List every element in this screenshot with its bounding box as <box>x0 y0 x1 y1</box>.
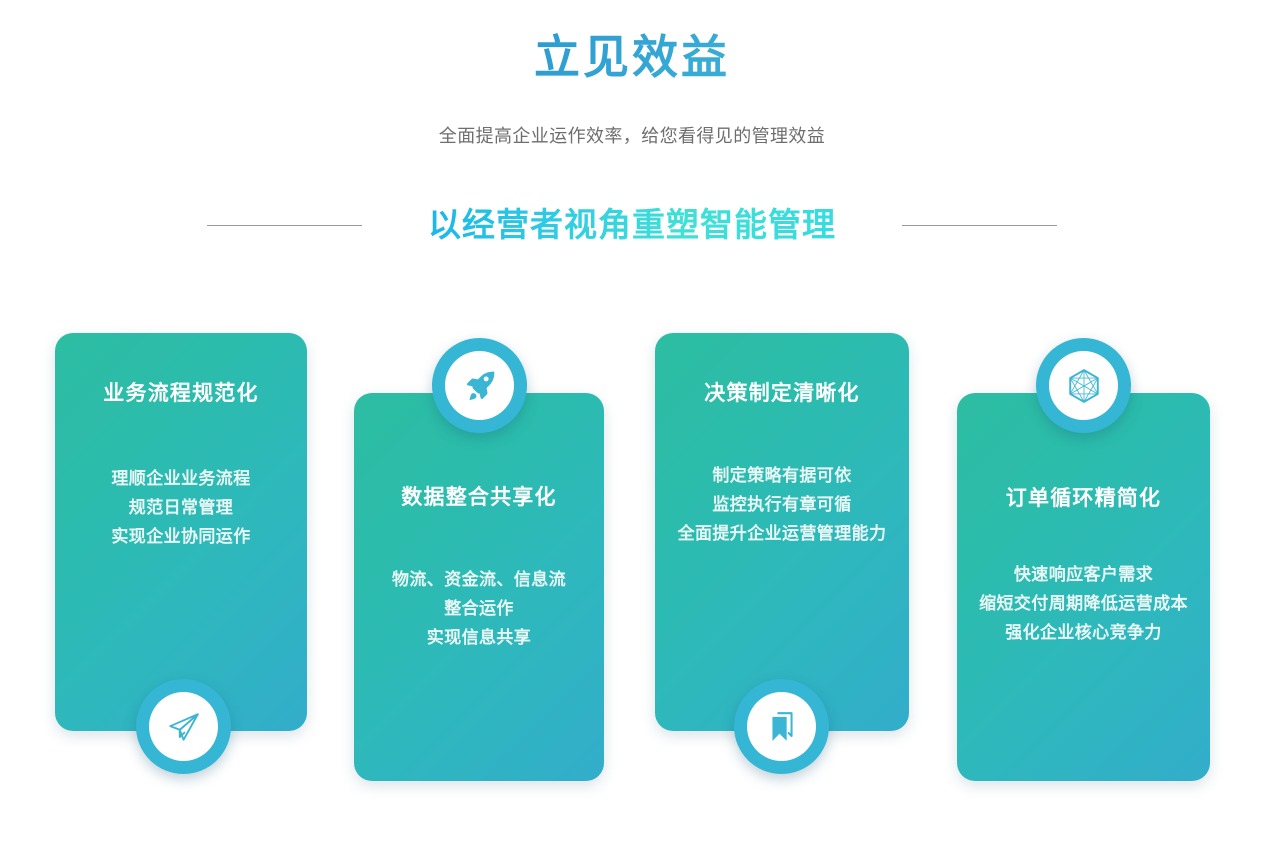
rocket-icon <box>463 369 497 403</box>
badge-core <box>445 351 514 420</box>
badge-core <box>747 692 816 761</box>
card-description: 快速响应客户需求 缩短交付周期降低运营成本 强化企业核心竞争力 <box>971 560 1196 647</box>
card-content: 业务流程规范化 理顺企业业务流程 规范日常管理 实现企业协同运作 <box>55 333 307 731</box>
hexagon-network-icon <box>1066 368 1102 404</box>
card-description: 物流、资金流、信息流 整合运作 实现信息共享 <box>368 565 590 652</box>
card-description: 理顺企业业务流程 规范日常管理 实现企业协同运作 <box>69 464 293 551</box>
badge-core <box>149 692 218 761</box>
card-content: 数据整合共享化 物流、资金流、信息流 整合运作 实现信息共享 <box>354 393 604 781</box>
card-title: 决策制定清晰化 <box>655 379 909 409</box>
card-description: 制定策略有据可依 监控执行有章可循 全面提升企业运营管理能力 <box>669 461 895 548</box>
card-title: 订单循环精简化 <box>957 484 1210 514</box>
benefit-card-2-icon-badge[interactable] <box>432 338 527 433</box>
benefit-card-2[interactable]: 数据整合共享化 物流、资金流、信息流 整合运作 实现信息共享 <box>354 393 604 781</box>
benefit-card-grid: 业务流程规范化 理顺企业业务流程 规范日常管理 实现企业协同运作 数据整合共享化… <box>0 0 1264 859</box>
badge-core <box>1049 351 1118 420</box>
card-title: 数据整合共享化 <box>354 483 604 513</box>
benefit-card-1[interactable]: 业务流程规范化 理顺企业业务流程 规范日常管理 实现企业协同运作 <box>55 333 307 731</box>
benefits-page: 立见效益 全面提高企业运作效率，给您看得见的管理效益 以经营者视角重塑智能管理 … <box>0 0 1264 859</box>
card-content: 订单循环精简化 快速响应客户需求 缩短交付周期降低运营成本 强化企业核心竞争力 <box>957 393 1210 781</box>
paper-plane-icon <box>167 710 201 744</box>
benefit-card-3[interactable]: 决策制定清晰化 制定策略有据可依 监控执行有章可循 全面提升企业运营管理能力 <box>655 333 909 731</box>
card-content: 决策制定清晰化 制定策略有据可依 监控执行有章可循 全面提升企业运营管理能力 <box>655 333 909 731</box>
benefit-card-3-icon-badge[interactable] <box>734 679 829 774</box>
benefit-card-4[interactable]: 订单循环精简化 快速响应客户需求 缩短交付周期降低运营成本 强化企业核心竞争力 <box>957 393 1210 781</box>
benefit-card-1-icon-badge[interactable] <box>136 679 231 774</box>
bookmark-icon <box>766 710 798 744</box>
benefit-card-4-icon-badge[interactable] <box>1036 338 1131 433</box>
card-title: 业务流程规范化 <box>55 379 307 409</box>
